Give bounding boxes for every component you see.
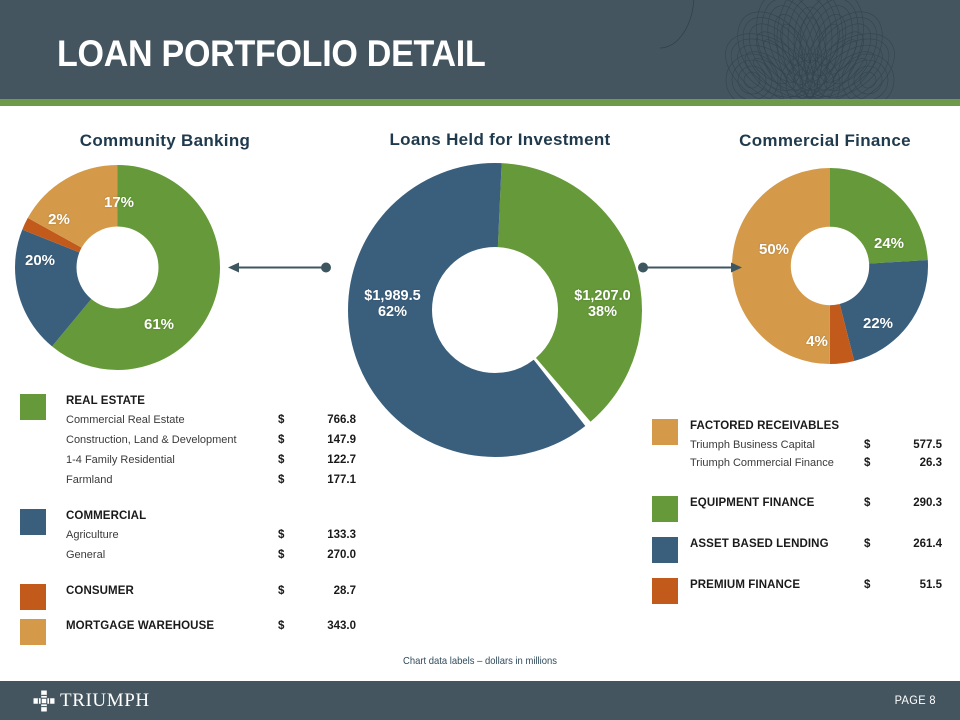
page-title: LOAN PORTFOLIO DETAIL (57, 33, 486, 75)
donut-label-17: 17% (93, 195, 145, 212)
legend-group[interactable]: CONSUMER$28.7 (20, 584, 380, 603)
donut-label-1207-percent: 38% (588, 304, 617, 320)
connector-arrow-right (630, 255, 745, 280)
legend-row-currency: $ (278, 474, 284, 486)
legend-row-currency: $ (278, 434, 284, 446)
legend-row-value: 147.9 (310, 434, 356, 446)
legend-row[interactable]: Triumph Commercial Finance$26.3 (652, 456, 952, 474)
donut-chart-community-banking: 61% 20% 2% 17% (15, 165, 220, 370)
donut-label-22: 22% (852, 316, 904, 333)
legend-row-value: 766.8 (310, 414, 356, 426)
legend-row[interactable]: 1-4 Family Residential$122.7 (20, 453, 380, 473)
legend-row-currency: $ (278, 414, 284, 426)
legend-row-value: 577.5 (896, 439, 942, 451)
accent-stripe (0, 99, 960, 106)
legend-row-value: 290.3 (896, 497, 942, 509)
chart-title-commercial-finance: Commercial Finance (700, 131, 950, 151)
legend-row[interactable]: Farmland$177.1 (20, 473, 380, 493)
slide-footer: TRIUMPH PAGE 8 (0, 681, 960, 720)
guilloche-rosette-icon (660, 0, 960, 99)
legend-row[interactable]: Commercial Real Estate$766.8 (20, 413, 380, 433)
legend-row-currency: $ (278, 585, 284, 597)
legend-row-value: 343.0 (310, 620, 356, 632)
legend-row-label: Triumph Commercial Finance (690, 457, 834, 469)
slide-header: LOAN PORTFOLIO DETAIL (0, 0, 960, 99)
legend-row[interactable]: Construction, Land & Development$147.9 (20, 433, 380, 453)
donut-label-50: 50% (748, 242, 800, 259)
donut-label-61: 61% (133, 317, 185, 334)
connector-arrow-left (225, 255, 340, 280)
brand-logo-text: TRIUMPH (60, 690, 150, 712)
legend-row-label: MORTGAGE WAREHOUSE (66, 620, 214, 632)
chart-footnote: Chart data labels – dollars in millions (48, 655, 912, 667)
donut-label-1989: $1,989.5 62% (340, 288, 445, 320)
donut-label-1207: $1,207.0 38% (550, 288, 655, 320)
legend-row-currency: $ (864, 538, 870, 550)
legend-row[interactable]: COMMERCIAL (20, 509, 380, 528)
legend-group[interactable]: EQUIPMENT FINANCE$290.3 (652, 496, 952, 515)
legend-row-currency: $ (278, 454, 284, 466)
legend-group[interactable]: COMMERCIALAgriculture$133.3General$270.0 (20, 509, 380, 568)
donut-label-20: 20% (14, 253, 66, 270)
legend-row-label: ASSET BASED LENDING (690, 538, 829, 550)
legend-row[interactable]: FACTORED RECEIVABLES (652, 419, 952, 438)
donut-label-2: 2% (39, 212, 79, 229)
legend-row[interactable]: MORTGAGE WAREHOUSE$343.0 (20, 619, 380, 638)
legend-row-label: REAL ESTATE (66, 395, 145, 407)
legend-row-value: 177.1 (310, 474, 356, 486)
chart-title-community-banking: Community Banking (40, 131, 290, 151)
legend-row-value: 133.3 (310, 529, 356, 541)
legend-row-label: Agriculture (66, 529, 119, 541)
legend-row-label: 1-4 Family Residential (66, 454, 175, 466)
brand-logo: TRIUMPH (32, 689, 150, 713)
legend-row-label: Triumph Business Capital (690, 439, 815, 451)
legend-row-label: FACTORED RECEIVABLES (690, 420, 839, 432)
legend-row-label: CONSUMER (66, 585, 134, 597)
legend-row-label: Commercial Real Estate (66, 414, 185, 426)
donut-label-4: 4% (796, 334, 838, 351)
legend-row-label: Farmland (66, 474, 112, 486)
legend-group[interactable]: REAL ESTATECommercial Real Estate$766.8C… (20, 394, 380, 493)
legend-row[interactable]: ASSET BASED LENDING$261.4 (652, 537, 952, 556)
legend-group[interactable]: FACTORED RECEIVABLESTriumph Business Cap… (652, 419, 952, 474)
page-number: PAGE 8 (895, 693, 936, 707)
triumph-cross-logo-icon (32, 689, 56, 713)
donut-label-24: 24% (863, 236, 915, 253)
donut-chart-loans-held-for-investment: $1,989.5 62% $1,207.0 38% (345, 160, 645, 460)
legend-row-value: 270.0 (310, 549, 356, 561)
legend-row-label: COMMERCIAL (66, 510, 146, 522)
legend-group[interactable]: ASSET BASED LENDING$261.4 (652, 537, 952, 556)
legend-row[interactable]: PREMIUM FINANCE$51.5 (652, 578, 952, 597)
legend-row-value: 51.5 (896, 579, 942, 591)
legend-row-currency: $ (864, 579, 870, 591)
legend-row[interactable]: General$270.0 (20, 548, 380, 568)
legend-row-currency: $ (864, 457, 870, 469)
legend-row[interactable]: REAL ESTATE (20, 394, 380, 413)
legend-row[interactable]: Triumph Business Capital$577.5 (652, 438, 952, 456)
legend-group[interactable]: PREMIUM FINANCE$51.5 (652, 578, 952, 597)
legend-row[interactable]: Agriculture$133.3 (20, 528, 380, 548)
donut-label-1989-percent: 62% (378, 304, 407, 320)
legend-row-currency: $ (278, 529, 284, 541)
legend-row-value: 122.7 (310, 454, 356, 466)
legend-group[interactable]: MORTGAGE WAREHOUSE$343.0 (20, 619, 380, 638)
legend-row-currency: $ (278, 620, 284, 632)
legend-row-value: 28.7 (310, 585, 356, 597)
donut-chart-commercial-finance: 24% 22% 4% 50% (732, 168, 928, 364)
donut-label-1989-amount: $1,989.5 (364, 288, 420, 304)
legend-row-value: 261.4 (896, 538, 942, 550)
legend-row[interactable]: EQUIPMENT FINANCE$290.3 (652, 496, 952, 515)
legend-row-value: 26.3 (896, 457, 942, 469)
chart-title-loans-held: Loans Held for Investment (340, 130, 660, 150)
legend-row-currency: $ (278, 549, 284, 561)
legend-row-label: General (66, 549, 105, 561)
legend-row-label: EQUIPMENT FINANCE (690, 497, 814, 509)
legend-row-currency: $ (864, 439, 870, 451)
legend-row-label: PREMIUM FINANCE (690, 579, 800, 591)
legend-row-currency: $ (864, 497, 870, 509)
donut-label-1207-amount: $1,207.0 (574, 288, 630, 304)
legend-row[interactable]: CONSUMER$28.7 (20, 584, 380, 603)
legend-row-label: Construction, Land & Development (66, 434, 237, 446)
